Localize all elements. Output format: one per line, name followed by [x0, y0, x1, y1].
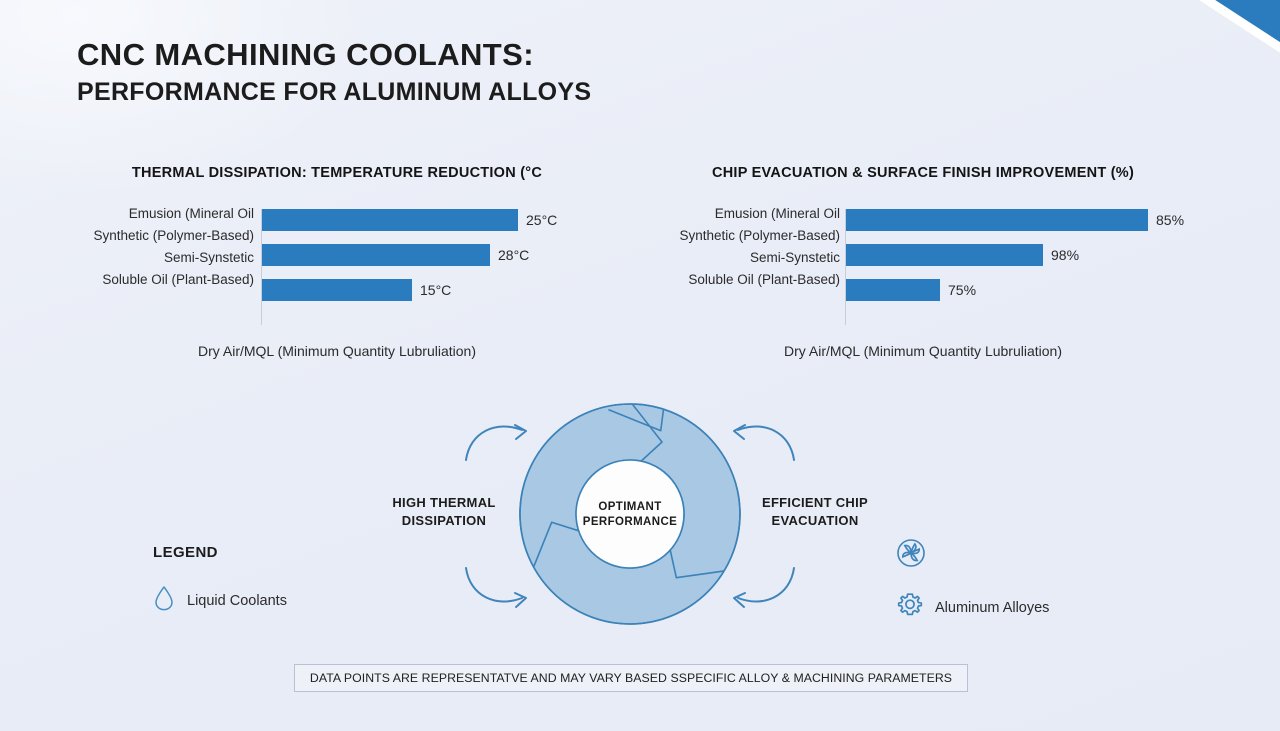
corner-decoration — [1196, 0, 1280, 54]
arrow-curve-bottom-left — [466, 568, 522, 601]
disclaimer-text: DATA POINTS ARE REPRESENTATVE AND MAY VA… — [310, 671, 952, 685]
donut-inner-circle — [576, 460, 684, 568]
corner-wedge-blue — [1206, 0, 1280, 46]
arrow-head-top-right — [734, 425, 745, 439]
legend-item: Liquid Coolants — [153, 585, 383, 616]
page-subtitle: PERFORMANCE FOR ALUMINUM ALLOYS — [77, 77, 777, 108]
arrow-head-top-left — [515, 425, 526, 439]
bar-value-label: 85% — [1156, 212, 1184, 228]
icon-cluster-item-fan — [896, 538, 1116, 573]
water-drop-icon — [153, 585, 175, 616]
bar-row: 15°C — [262, 279, 557, 301]
fan-turbine-icon — [896, 538, 926, 573]
arrow-curve-top-left — [466, 427, 522, 460]
icon-cluster: Aluminum Alloyes — [896, 538, 1116, 624]
cycle-label-left-line1: HIGH THERMAL — [385, 494, 503, 512]
gear-icon — [896, 591, 924, 624]
legend-title: LEGEND — [153, 544, 383, 561]
cycle-label-left: HIGH THERMAL DISSIPATION — [385, 494, 503, 531]
bar — [262, 279, 412, 301]
arrow-curve-top-right — [738, 427, 794, 460]
icon-cluster-item-gear: Aluminum Alloyes — [896, 591, 1116, 624]
cycle-center-line2: PERFORMANCE — [583, 516, 678, 528]
category-label: Soluble Oil (Plant-Based) — [54, 269, 254, 291]
cycle-center-line1: OPTIMANT — [598, 501, 661, 513]
cycle-label-right-line2: EVACUATION — [753, 512, 877, 530]
chart-caption: Dry Air/MQL (Minimum Quantity Lubruliati… — [54, 343, 620, 359]
bar — [846, 209, 1148, 231]
icon-cluster-gear-label: Aluminum Alloyes — [935, 600, 1049, 616]
bar — [846, 279, 940, 301]
cycle-label-right: EFFICIENT CHIP EVACUATION — [753, 494, 877, 531]
infographic-canvas: CNC MACHINING COOLANTS: PERFORMANCE FOR … — [0, 0, 1280, 731]
bar — [262, 244, 490, 266]
arrow-curve-bottom-right — [738, 568, 794, 601]
bar — [846, 244, 1043, 266]
bar-value-label: 28°C — [498, 247, 529, 263]
chart-chip-evacuation: CHIP EVACUATION & SURFACE FINISH IMPROVE… — [640, 165, 1206, 375]
category-label: Semi-Synstetic — [54, 247, 254, 269]
legend: LEGEND Liquid Coolants — [153, 544, 383, 616]
chart-plot-area: Emusion (Mineral Oil Synthetic (Polymer-… — [54, 209, 620, 319]
chart-bars: 85% 98% 75% — [846, 209, 1184, 314]
bar-row: 75% — [846, 279, 1184, 301]
disclaimer-box: DATA POINTS ARE REPRESENTATVE AND MAY VA… — [294, 664, 968, 692]
bar-row: 25°C — [262, 209, 557, 231]
bar — [262, 209, 518, 231]
bar-row: 28°C — [262, 244, 557, 266]
page-title: CNC MACHINING COOLANTS: — [77, 38, 777, 73]
chart-bars: 25°C 28°C 15°C — [262, 209, 557, 314]
bar-value-label: 15°C — [420, 282, 451, 298]
category-label: Semi-Synstetic — [640, 247, 840, 269]
chart-title: THERMAL DISSIPATION: TEMPERATURE REDUCTI… — [54, 165, 620, 181]
page-header: CNC MACHINING COOLANTS: PERFORMANCE FOR … — [77, 38, 777, 107]
cycle-label-right-line1: EFFICIENT CHIP — [753, 494, 877, 512]
bar-value-label: 25°C — [526, 212, 557, 228]
category-label: Soluble Oil (Plant-Based) — [640, 269, 840, 291]
chart-caption: Dry Air/MQL (Minimum Quantity Lubruliati… — [640, 343, 1206, 359]
category-label: Emusion (Mineral Oil — [640, 203, 840, 225]
chart-plot-area: Emusion (Mineral Oil Synthetic (Polymer-… — [640, 209, 1206, 319]
bar-value-label: 75% — [948, 282, 976, 298]
chart-category-labels: Emusion (Mineral Oil Synthetic (Polymer-… — [640, 203, 840, 290]
category-label: Emusion (Mineral Oil — [54, 203, 254, 225]
category-label: Synthetic (Polymer-Based) — [640, 225, 840, 247]
bar-value-label: 98% — [1051, 247, 1079, 263]
bar-row: 98% — [846, 244, 1184, 266]
category-label: Synthetic (Polymer-Based) — [54, 225, 254, 247]
chart-category-labels: Emusion (Mineral Oil Synthetic (Polymer-… — [54, 203, 254, 290]
legend-item-label: Liquid Coolants — [187, 593, 287, 609]
chart-thermal-dissipation: THERMAL DISSIPATION: TEMPERATURE REDUCTI… — [54, 165, 620, 375]
chart-title: CHIP EVACUATION & SURFACE FINISH IMPROVE… — [640, 165, 1206, 181]
cycle-label-left-line2: DISSIPATION — [385, 512, 503, 530]
bar-row: 85% — [846, 209, 1184, 231]
